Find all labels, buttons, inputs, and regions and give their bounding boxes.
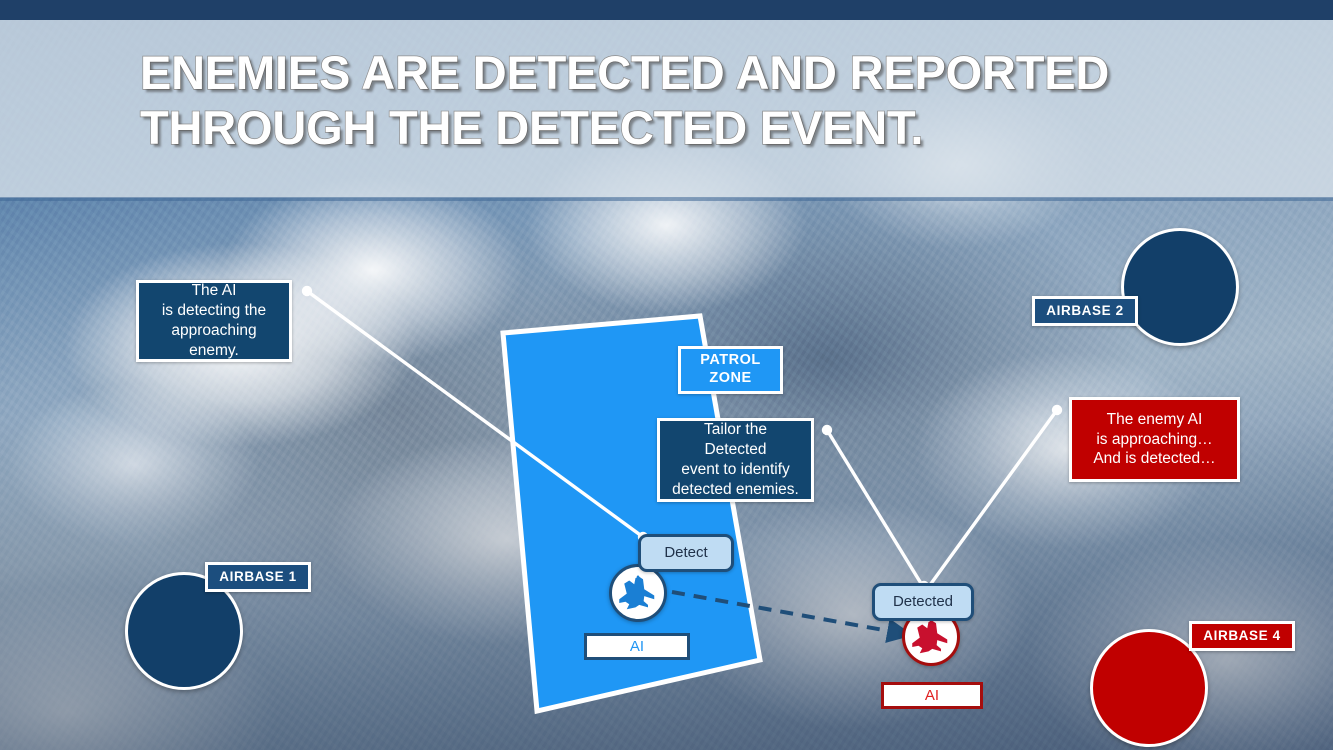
enemy-ai-label: AI [881, 682, 983, 709]
patrol-zone-label: PATROL ZONE [678, 346, 783, 394]
airbase-2-label: AIRBASE 2 [1032, 296, 1138, 326]
patrol-zone-label-text: PATROL ZONE [700, 352, 760, 387]
slide-canvas: ENEMIES ARE DETECTED AND REPORTED THROUG… [0, 0, 1333, 750]
callout-friendly-ai-text: The AI is detecting the approaching enem… [151, 281, 277, 360]
enemy-ai-label-text: AI [925, 686, 939, 705]
fighter-jet-icon [618, 573, 658, 613]
detected-node-button[interactable]: Detected [872, 583, 974, 621]
airbase-4-label-text: AIRBASE 4 [1203, 627, 1280, 644]
airbase-1-label: AIRBASE 1 [205, 562, 311, 592]
callout-tailor-event-text: Tailor the Detected event to identify de… [672, 420, 799, 499]
slide-title: ENEMIES ARE DETECTED AND REPORTED THROUG… [140, 46, 1240, 155]
callout-enemy-ai-text: The enemy AI is approaching… And is dete… [1093, 410, 1215, 469]
callout-friendly-ai: The AI is detecting the approaching enem… [136, 280, 292, 362]
fighter-jet-icon [911, 617, 951, 657]
airbase-2-label-text: AIRBASE 2 [1046, 302, 1123, 319]
detect-node-label: Detect [664, 543, 707, 562]
friendly-ai-label: AI [584, 633, 690, 660]
title-banner-rule [0, 197, 1333, 201]
callout-enemy-ai: The enemy AI is approaching… And is dete… [1069, 397, 1240, 482]
top-accent-band [0, 0, 1333, 20]
callout-tailor-event: Tailor the Detected event to identify de… [657, 418, 814, 502]
friendly-jet-medallion[interactable] [609, 564, 667, 622]
detected-node-label: Detected [893, 592, 953, 611]
detect-node-button[interactable]: Detect [638, 534, 734, 572]
airbase-2-marker[interactable] [1121, 228, 1239, 346]
airbase-1-label-text: AIRBASE 1 [219, 568, 296, 585]
airbase-4-label: AIRBASE 4 [1189, 621, 1295, 651]
friendly-ai-label-text: AI [630, 637, 644, 656]
